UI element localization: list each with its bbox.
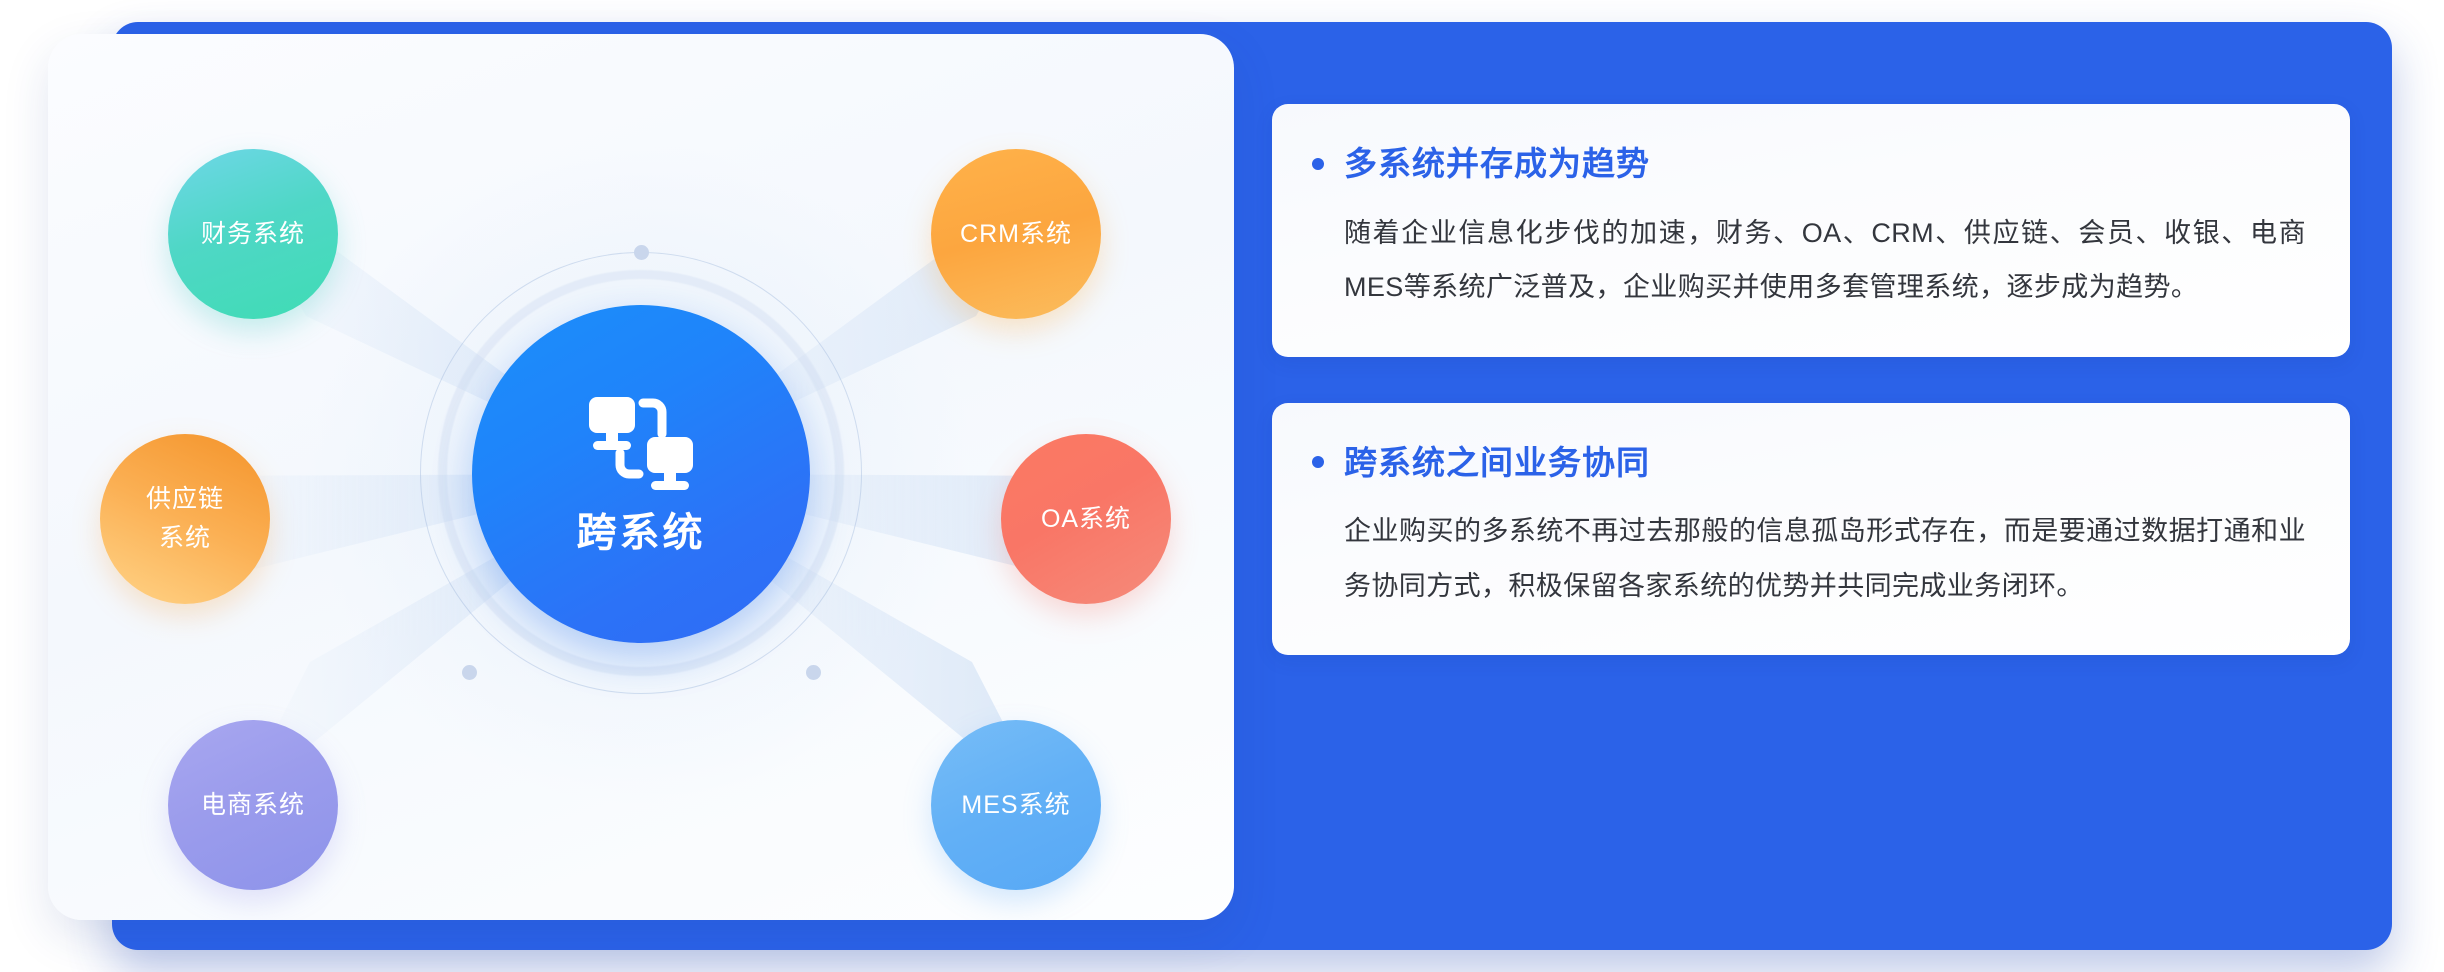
- node-oa[interactable]: OA系统: [1001, 434, 1171, 604]
- ring-dot-bottom-right: [806, 665, 821, 680]
- node-crm[interactable]: CRM系统: [931, 149, 1101, 319]
- node-mes[interactable]: MES系统: [931, 720, 1101, 890]
- page-root: 跨系统 财务系统 CRM系统 供应链 系统 OA系统 电商系统 MES系统: [0, 0, 2444, 972]
- info-card-1-header: 多系统并存成为趋势: [1312, 144, 2306, 184]
- info-card-2-title: 跨系统之间业务协同: [1344, 443, 1650, 483]
- bullet-icon: [1312, 456, 1324, 468]
- cross-system-diagram: 跨系统 财务系统 CRM系统 供应链 系统 OA系统 电商系统 MES系统: [48, 34, 1234, 920]
- ring-dot-top: [634, 245, 649, 260]
- node-supply-chain-label-line2: 系统: [159, 519, 211, 558]
- ring-dot-bottom-left: [462, 665, 477, 680]
- info-card-1-title: 多系统并存成为趋势: [1344, 144, 1650, 184]
- info-card-2: 跨系统之间业务协同 企业购买的多系统不再过去那般的信息孤岛形式存在，而是要通过数…: [1272, 403, 2350, 656]
- network-computers-icon: [587, 395, 695, 493]
- diagram-card: 跨系统 财务系统 CRM系统 供应链 系统 OA系统 电商系统 MES系统: [48, 34, 1234, 920]
- node-crm-label: CRM系统: [960, 215, 1072, 254]
- node-ecommerce[interactable]: 电商系统: [168, 720, 338, 890]
- node-oa-label: OA系统: [1041, 500, 1131, 539]
- info-card-1-body: 随着企业信息化步伐的加速，财务、OA、CRM、供应链、会员、收银、电商MES等系…: [1344, 206, 2306, 315]
- node-mes-label: MES系统: [961, 786, 1070, 825]
- info-card-list: 多系统并存成为趋势 随着企业信息化步伐的加速，财务、OA、CRM、供应链、会员、…: [1272, 104, 2350, 655]
- node-ecommerce-label: 电商系统: [201, 786, 305, 825]
- info-card-2-header: 跨系统之间业务协同: [1312, 443, 2306, 483]
- info-card-1: 多系统并存成为趋势 随着企业信息化步伐的加速，财务、OA、CRM、供应链、会员、…: [1272, 104, 2350, 357]
- node-finance[interactable]: 财务系统: [168, 149, 338, 319]
- bullet-icon: [1312, 158, 1324, 170]
- node-supply-chain[interactable]: 供应链 系统: [100, 434, 270, 604]
- node-supply-chain-label-line1: 供应链: [146, 480, 224, 519]
- hub-cross-system[interactable]: 跨系统: [472, 305, 810, 643]
- hub-label: 跨系统: [577, 513, 706, 553]
- info-card-2-body: 企业购买的多系统不再过去那般的信息孤岛形式存在，而是要通过数据打通和业务协同方式…: [1344, 504, 2306, 613]
- node-finance-label: 财务系统: [201, 215, 305, 254]
